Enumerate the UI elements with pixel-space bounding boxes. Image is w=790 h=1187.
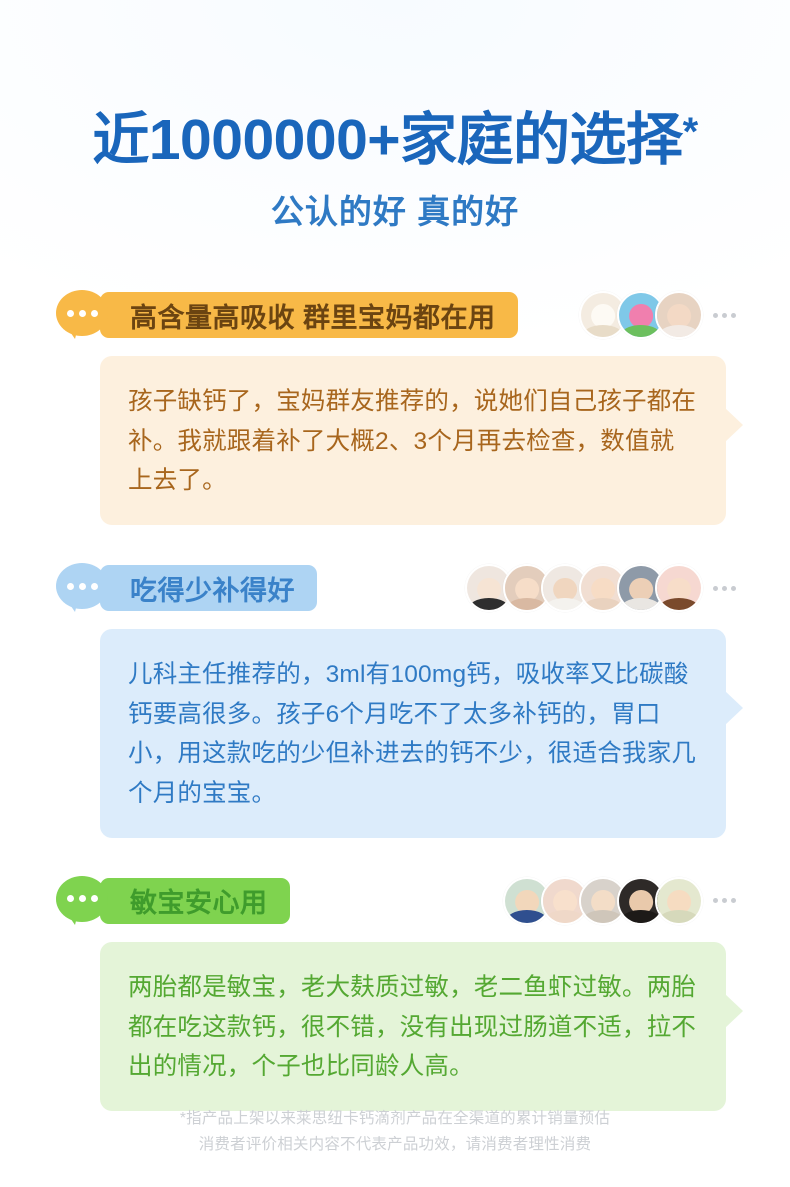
headline-asterisk: * (683, 110, 698, 154)
bubble-dot (67, 583, 74, 590)
bubble-dot (79, 583, 86, 590)
more-dots-icon[interactable] (713, 586, 736, 591)
section-header: 吃得少补得好 (56, 559, 738, 617)
speech-bubble-icon (56, 290, 112, 340)
speech-bubble-disc (56, 563, 108, 609)
message-bubble-tail (725, 994, 743, 1028)
speech-bubble-icon (56, 563, 112, 613)
message-bubble-tail (725, 408, 743, 442)
section-header: 敏宝安心用 (56, 872, 738, 930)
speech-bubble-disc (56, 290, 108, 336)
avatar-group[interactable] (465, 564, 738, 612)
testimonial-message: 两胎都是敏宝，老大麸质过敏，老二鱼虾过敏。两胎都在吃这款钙，很不错，没有出现过肠… (100, 942, 726, 1111)
bubble-dot (67, 895, 74, 902)
section-title: 敏宝安心用 (100, 878, 290, 924)
testimonial-section-eat-less-supplement-better: 吃得少补得好 (56, 559, 738, 838)
avatar-baby-curly-hair (655, 291, 703, 339)
section-title: 高含量高吸收 群里宝妈都在用 (100, 292, 518, 338)
speech-bubble-icon (56, 876, 112, 926)
footer-disclaimer: *指产品上架以来莱思纽卡钙滴剂产品在全渠道的累计销量预估 消费者评价相关内容不代… (0, 1106, 790, 1159)
page-subtitle: 公认的好 真的好 (0, 195, 790, 228)
more-dots-icon[interactable] (713, 898, 736, 903)
disclaimer-line-2: 消费者评价相关内容不代表产品功效，请消费者理性消费 (0, 1132, 790, 1159)
testimonial-list: 高含量高吸收 群里宝妈都在用 (0, 286, 790, 1111)
section-title: 吃得少补得好 (100, 565, 317, 611)
bubble-dot (79, 310, 86, 317)
avatar-mother-and-child (655, 564, 703, 612)
testimonial-message: 儿科主任推荐的，3ml有100mg钙，吸收率又比碳酸钙要高很多。孩子6个月吃不了… (100, 629, 726, 838)
message-bubble-tail (725, 691, 743, 725)
promo-page: 近1000000+家庭的选择* 公认的好 真的好 高含量高吸收 群里宝妈都在用 (0, 0, 790, 1187)
testimonial-message: 孩子缺钙了，宝妈群友推荐的，说她们自己孩子都在补。我就跟着补了大概2、3个月再去… (100, 356, 726, 525)
avatar-group[interactable] (503, 877, 738, 925)
bubble-dot (91, 310, 98, 317)
section-header: 高含量高吸收 群里宝妈都在用 (56, 286, 738, 344)
more-dots-icon[interactable] (713, 313, 736, 318)
speech-bubble-disc (56, 876, 108, 922)
testimonial-section-sensitive-baby-safe: 敏宝安心用 (56, 872, 738, 1111)
headline-text: 近1000000+家庭的选择 (92, 108, 682, 172)
avatar-group[interactable] (579, 291, 738, 339)
bubble-dot (91, 895, 98, 902)
bubble-dot (67, 310, 74, 317)
bubble-dot (91, 583, 98, 590)
bubble-dot (79, 895, 86, 902)
page-title: 近1000000+家庭的选择* (0, 112, 790, 169)
avatar-child-hands-on-face (655, 877, 703, 925)
disclaimer-line-1: *指产品上架以来莱思纽卡钙滴剂产品在全渠道的累计销量预估 (0, 1106, 790, 1133)
page-header: 近1000000+家庭的选择* 公认的好 真的好 (0, 0, 790, 228)
testimonial-section-high-content-high-absorption: 高含量高吸收 群里宝妈都在用 (56, 286, 738, 525)
